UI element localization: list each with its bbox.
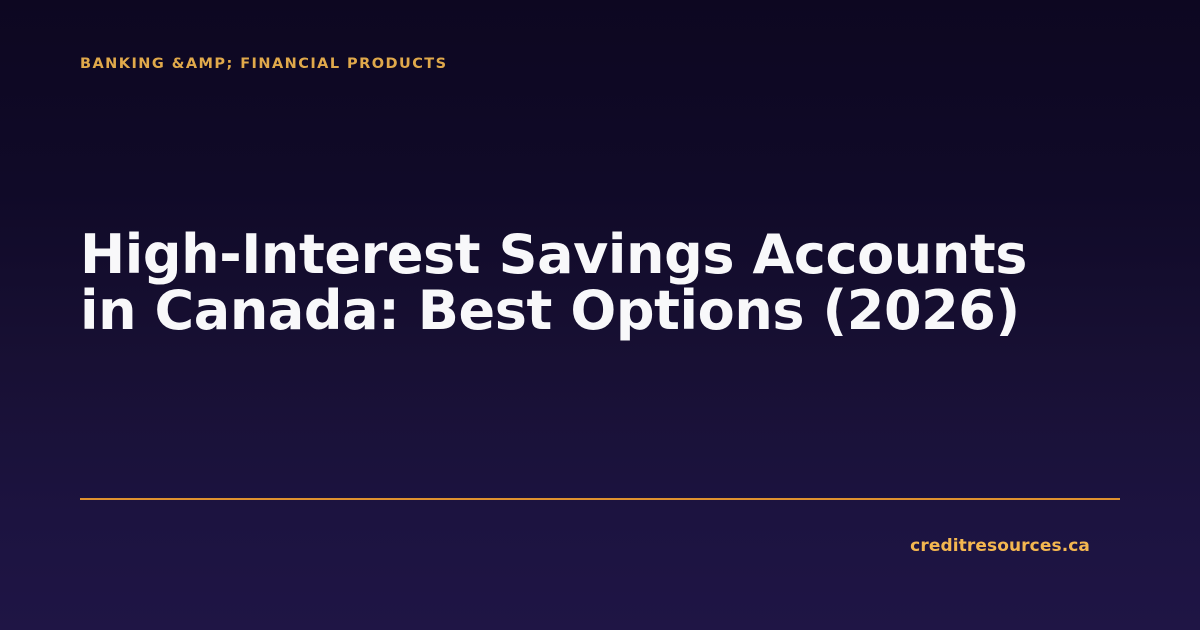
- social-share-card: BANKING &AMP; FINANCIAL PRODUCTS High-In…: [0, 0, 1200, 630]
- headline-container: High-Interest Savings Accounts in Canada…: [80, 67, 1120, 498]
- page-title: High-Interest Savings Accounts in Canada…: [80, 227, 1090, 339]
- site-name: creditresources.ca: [910, 536, 1090, 556]
- card-footer: creditresources.ca: [80, 500, 1120, 592]
